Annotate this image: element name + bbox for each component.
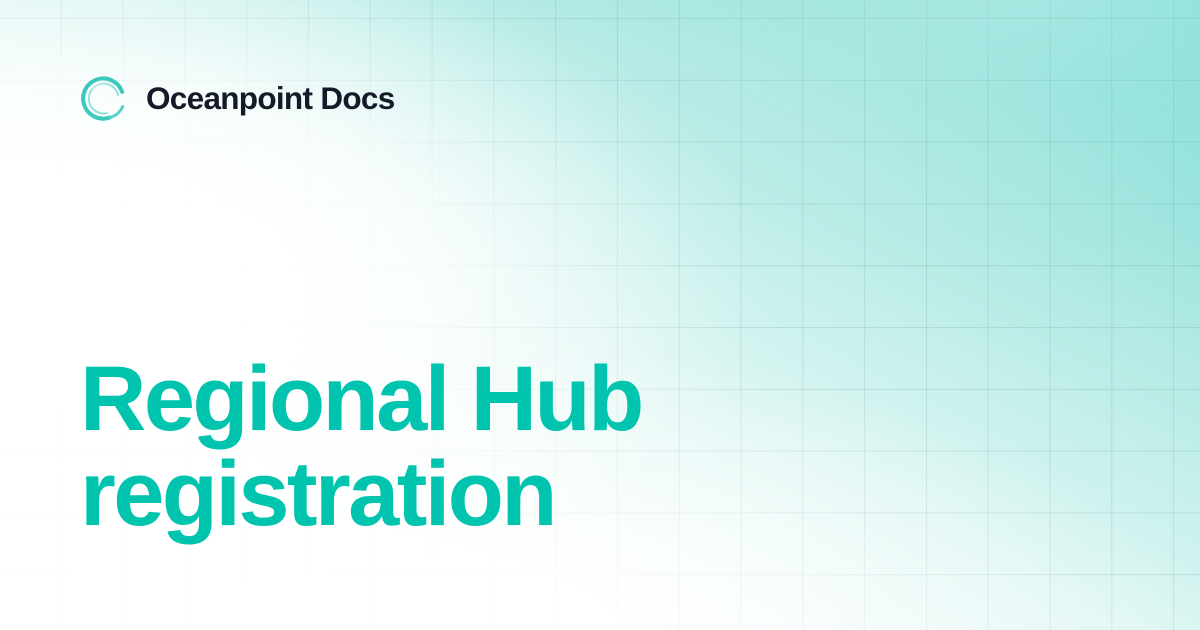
oceanpoint-spiral-logo-icon	[80, 74, 129, 123]
social-share-card: Oceanpoint Docs Regional Hub registratio…	[0, 0, 1200, 630]
brand-lockup[interactable]: Oceanpoint Docs	[80, 74, 395, 123]
page-title: Regional Hub registration	[80, 352, 780, 542]
brand-name-label: Oceanpoint Docs	[146, 83, 395, 115]
